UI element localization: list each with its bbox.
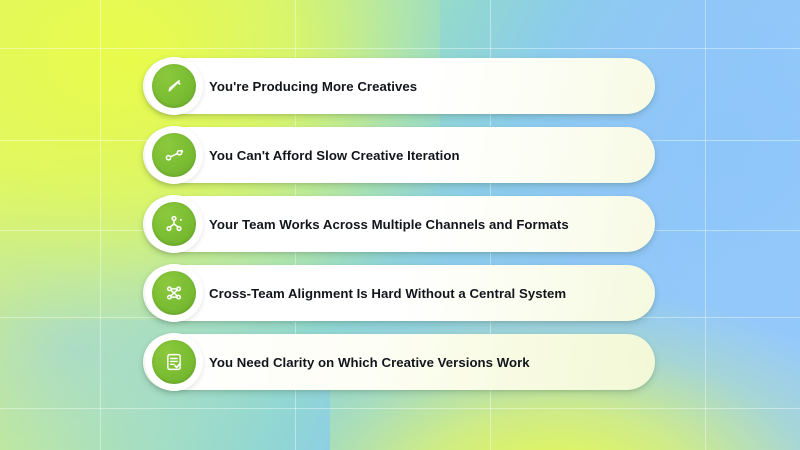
grid-line-vertical bbox=[100, 0, 101, 450]
list-item[interactable]: Cross-Team Alignment Is Hard Without a C… bbox=[143, 265, 655, 321]
list-item-label: You Need Clarity on Which Creative Versi… bbox=[209, 355, 530, 370]
slide-canvas: You're Producing More Creatives You Can'… bbox=[0, 0, 800, 450]
list-item[interactable]: You Need Clarity on Which Creative Versi… bbox=[143, 334, 655, 390]
grid-line-horizontal bbox=[0, 48, 800, 49]
list-item-label: Your Team Works Across Multiple Channels… bbox=[209, 217, 569, 232]
icon-badge bbox=[145, 57, 203, 115]
list-item-label: You're Producing More Creatives bbox=[209, 79, 417, 94]
grid-line-horizontal bbox=[0, 408, 800, 409]
share-network-icon bbox=[152, 271, 196, 315]
benefit-list: You're Producing More Creatives You Can'… bbox=[143, 58, 655, 390]
list-item[interactable]: You Can't Afford Slow Creative Iteration bbox=[143, 127, 655, 183]
hierarchy-icon bbox=[152, 202, 196, 246]
icon-badge bbox=[145, 264, 203, 322]
document-check-icon bbox=[152, 340, 196, 384]
icon-badge bbox=[145, 195, 203, 253]
pen-icon bbox=[152, 64, 196, 108]
list-item-label: Cross-Team Alignment Is Hard Without a C… bbox=[209, 286, 566, 301]
nodes-path-icon bbox=[152, 133, 196, 177]
list-item[interactable]: Your Team Works Across Multiple Channels… bbox=[143, 196, 655, 252]
icon-badge bbox=[145, 126, 203, 184]
list-item-label: You Can't Afford Slow Creative Iteration bbox=[209, 148, 460, 163]
list-item[interactable]: You're Producing More Creatives bbox=[143, 58, 655, 114]
icon-badge bbox=[145, 333, 203, 391]
grid-line-vertical bbox=[705, 0, 706, 450]
